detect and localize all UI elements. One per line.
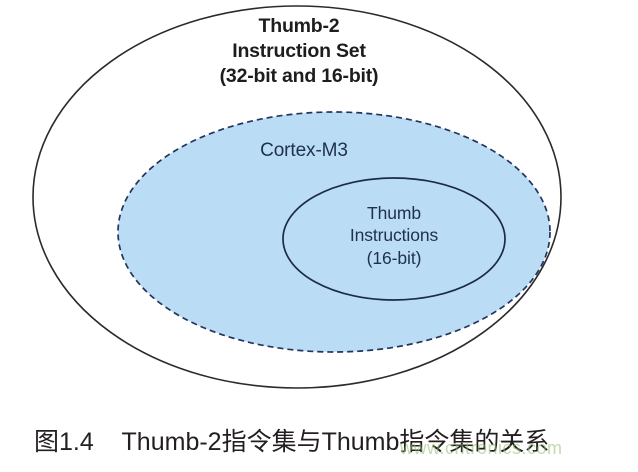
- figure-root: Thumb-2 Instruction Set (32-bit and 16-b…: [0, 0, 638, 472]
- figure-caption-row: 图1.4 Thumb-2指令集与Thumb指令集的关系: [0, 408, 638, 472]
- venn-svg: [0, 0, 638, 408]
- venn-diagram: Thumb-2 Instruction Set (32-bit and 16-b…: [0, 0, 638, 408]
- inner-ellipse-thumb-instructions: [283, 178, 505, 300]
- figure-caption: 图1.4 Thumb-2指令集与Thumb指令集的关系: [34, 422, 549, 458]
